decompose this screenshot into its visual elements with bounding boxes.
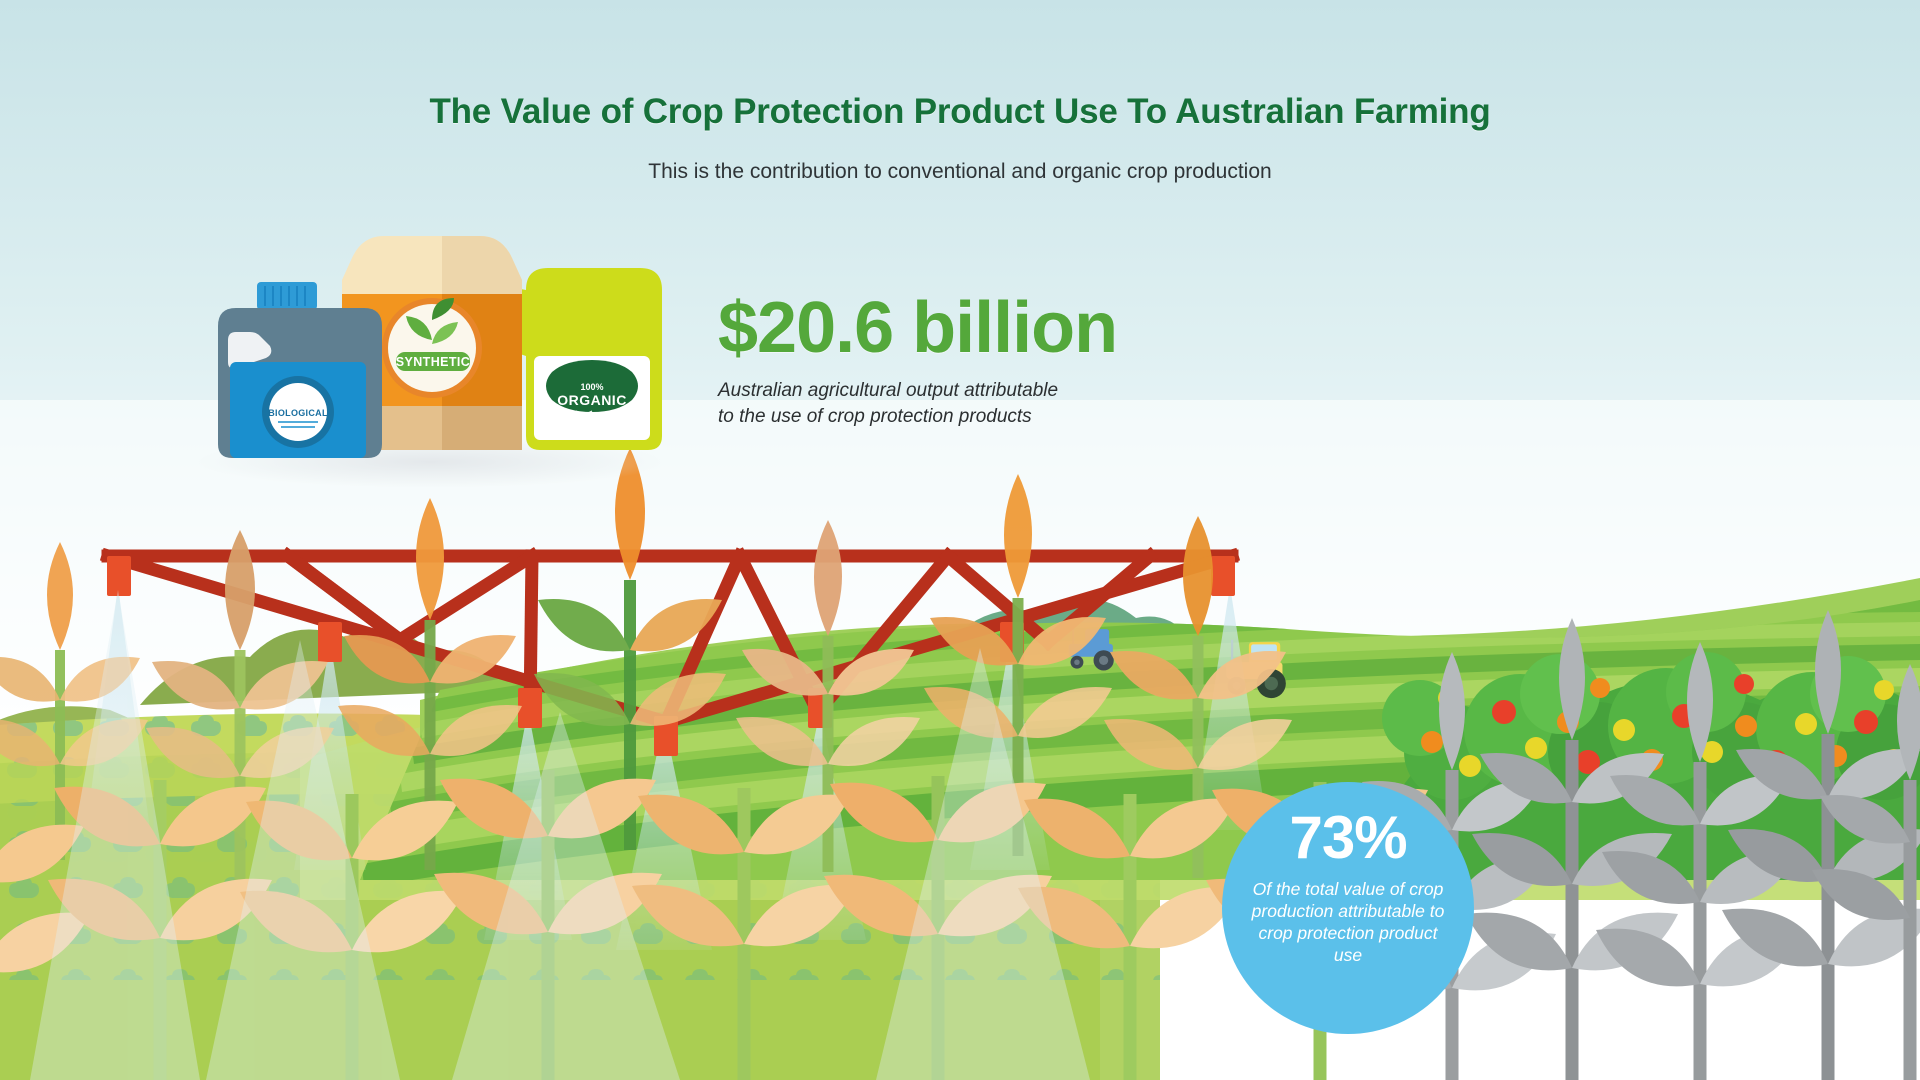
svg-text:ORGANIC: ORGANIC <box>557 392 627 408</box>
svg-text:BIOLOGICAL: BIOLOGICAL <box>268 408 328 418</box>
stat-description-line1: Australian agricultural output attributa… <box>718 378 1117 404</box>
percent-description: Of the total value of crop production at… <box>1246 878 1451 966</box>
svg-text:SYNTHETIC: SYNTHETIC <box>396 355 470 369</box>
page-subtitle: This is the contribution to conventional… <box>0 160 1920 184</box>
percent-badge: 73% Of the total value of crop productio… <box>1222 782 1474 1034</box>
stat-description-line2: to the use of crop protection products <box>718 404 1117 430</box>
svg-text:100%: 100% <box>580 382 603 392</box>
headline-stat: $20.6 billion Australian agricultural ou… <box>718 292 1117 430</box>
stat-value: $20.6 billion <box>718 292 1117 364</box>
percent-value: 73% <box>1289 808 1406 868</box>
organic-seal: 100% ORGANIC <box>546 360 638 415</box>
infographic-canvas: 100% ORGANIC SYNTHETIC <box>0 0 1920 1080</box>
stat-description: Australian agricultural output attributa… <box>718 378 1117 430</box>
page-title: The Value of Crop Protection Product Use… <box>0 92 1920 132</box>
biological-jug: BIOLOGICAL <box>218 282 382 458</box>
